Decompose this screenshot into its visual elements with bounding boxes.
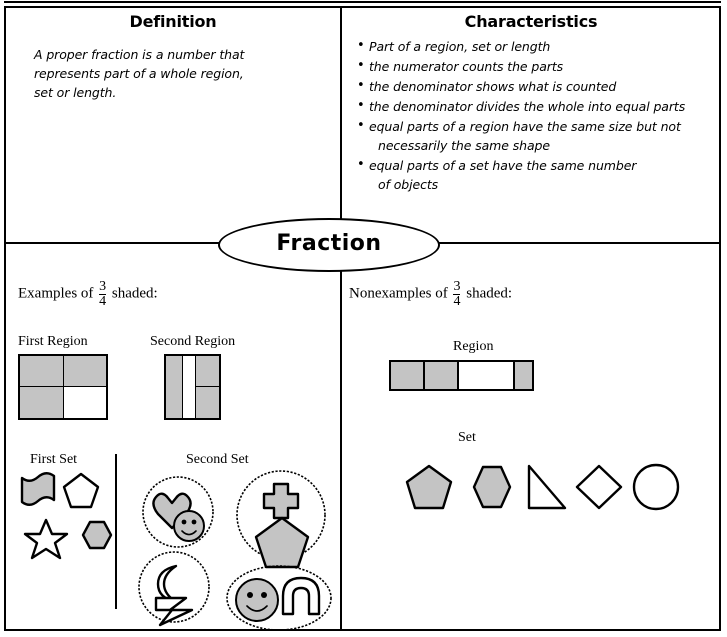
hexagon-shape (474, 467, 510, 507)
bullet-icon: • (357, 155, 365, 174)
definition-quadrant: Definition A proper fraction is a number… (6, 8, 340, 242)
smiley-face-shape (174, 511, 204, 541)
list-item: • Part of a region, set or length (357, 37, 719, 56)
examples-heading: Examples of 3 4 shaded: (18, 280, 158, 310)
first-set-shapes (18, 472, 123, 562)
crescent-moon-shape (158, 566, 176, 602)
pentagon-shape (407, 466, 451, 508)
definition-line-1: A proper fraction is a number that (34, 45, 314, 64)
bullet-icon: • (357, 116, 365, 135)
circle-shape (634, 465, 678, 509)
nonexamples-prefix: Nonexamples of (349, 286, 448, 302)
definition-text: A proper fraction is a number that repre… (34, 45, 314, 102)
characteristic-text: the denominator shows what is counted (369, 79, 616, 94)
first-set-label: First Set (30, 452, 77, 468)
examples-suffix: shaded: (112, 286, 158, 302)
list-item: • equal parts of a region have the same … (357, 117, 719, 155)
star-shape (25, 520, 67, 558)
region-cell (166, 356, 183, 418)
characteristic-text: equal parts of a region have the same si… (369, 119, 681, 134)
fraction-denominator: 4 (453, 294, 460, 309)
region-cell (196, 356, 219, 387)
region-cell (20, 387, 64, 418)
bullet-icon: • (357, 96, 365, 115)
list-item: • the denominator shows what is counted (357, 77, 719, 96)
list-item: • the numerator counts the parts (357, 57, 719, 76)
definition-line-3: set or length. (34, 83, 314, 102)
examples-prefix: Examples of (18, 286, 93, 302)
region-cell (183, 356, 196, 418)
characteristics-quadrant: Characteristics • Part of a region, set … (343, 8, 719, 242)
second-region-diagram (164, 354, 221, 420)
first-region-label: First Region (18, 334, 88, 350)
fraction-three-fourths: 3 4 (453, 280, 460, 310)
region-cell (64, 356, 106, 387)
characteristic-text: the numerator counts the parts (369, 59, 563, 74)
list-item: • equal parts of a set have the same num… (357, 156, 719, 194)
group-smiley-arch (227, 566, 331, 630)
smiley-face-shape (236, 579, 278, 621)
pentagon-shape (256, 518, 308, 567)
diamond-shape (577, 466, 621, 508)
lightning-bolt-shape (156, 598, 192, 625)
characteristic-text: equal parts of a set have the same numbe… (369, 158, 636, 173)
hexagon-shape (83, 522, 111, 548)
region-cell (196, 387, 219, 418)
region-cell (425, 362, 459, 389)
region-cell (459, 362, 515, 389)
list-item: • the denominator divides the whole into… (357, 97, 719, 116)
nonexample-region-diagram (389, 360, 534, 391)
first-region-diagram (18, 354, 108, 420)
pentagon-shape (64, 474, 98, 507)
arch-shape (283, 578, 319, 614)
characteristic-text: Part of a region, set or length (369, 39, 550, 54)
characteristic-text-wrap: necessarily the same shape (369, 136, 719, 155)
right-triangle-shape (529, 466, 565, 508)
fraction-three-fourths: 3 4 (99, 280, 106, 310)
second-region-label: Second Region (150, 334, 235, 350)
top-border-stub (4, 1, 721, 4)
characteristic-text: the denominator divides the whole into e… (369, 99, 685, 114)
region-cell (515, 362, 532, 389)
bullet-icon: • (357, 36, 365, 55)
examples-quadrant: Examples of 3 4 shaded: First Region Sec… (6, 244, 340, 629)
center-concept-oval: Fraction (218, 218, 440, 272)
nonexamples-quadrant: Nonexamples of 3 4 shaded: Region Set (343, 244, 719, 629)
second-set-groups (126, 470, 341, 630)
nonexample-region-label: Region (453, 339, 493, 355)
characteristics-list: • Part of a region, set or length • the … (343, 37, 719, 194)
fraction-numerator: 3 (453, 280, 460, 294)
cross-shape (264, 484, 298, 518)
second-set-label: Second Set (186, 452, 249, 468)
fraction-denominator: 4 (99, 294, 106, 309)
region-cell (391, 362, 425, 389)
group-moon-lightning (139, 552, 209, 625)
bullet-icon: • (357, 56, 365, 75)
fraction-numerator: 3 (99, 280, 106, 294)
nonexamples-suffix: shaded: (466, 286, 512, 302)
region-cell (64, 387, 106, 418)
nonexamples-heading: Nonexamples of 3 4 shaded: (349, 280, 512, 310)
center-concept-label: Fraction (220, 220, 438, 267)
flag-shape (22, 473, 54, 505)
bullet-icon: • (357, 76, 365, 95)
characteristics-heading: Characteristics (343, 12, 719, 31)
characteristic-text-wrap: of objects (369, 175, 719, 194)
region-cell (20, 356, 64, 387)
group-heart-smiley (143, 477, 213, 547)
nonexample-set-label: Set (458, 430, 476, 446)
group-cross-pentagon (237, 471, 325, 567)
definition-line-2: represents part of a whole region, (34, 64, 314, 83)
definition-heading: Definition (6, 12, 340, 31)
nonexample-set-shapes (403, 462, 643, 532)
